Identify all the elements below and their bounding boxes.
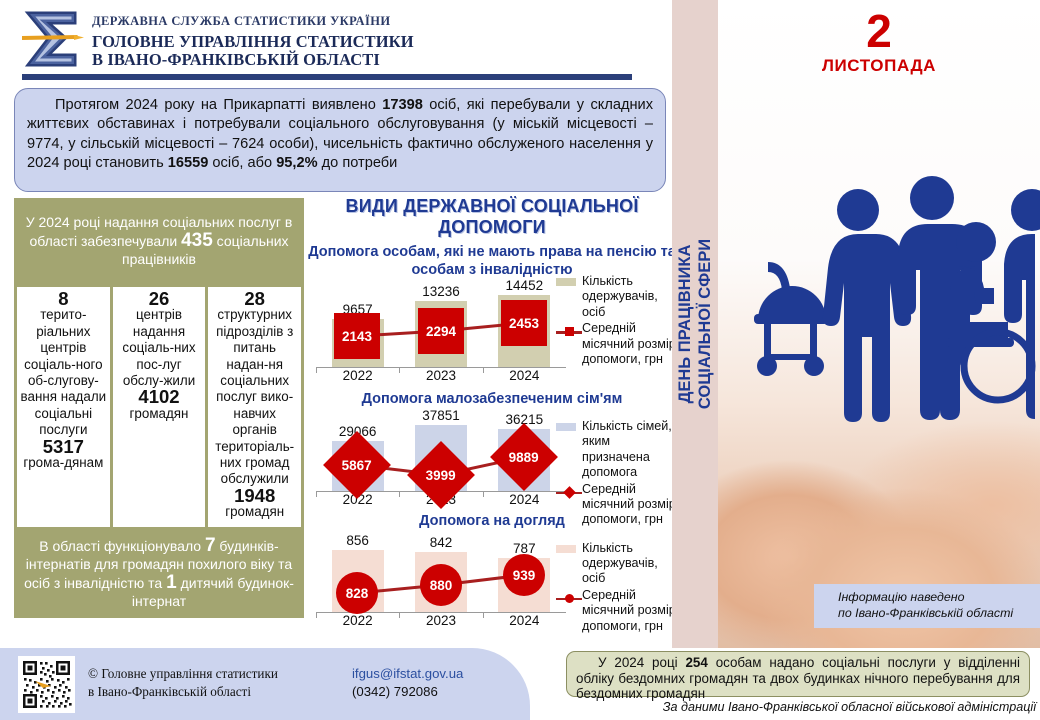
people-pictogram-icon xyxy=(740,170,1040,470)
line-marker-value: 939 xyxy=(513,568,536,583)
footer-contacts: ifgus@ifstat.gov.ua (0342) 792086 xyxy=(352,665,463,700)
header-divider xyxy=(22,74,632,80)
line-marker-value: 880 xyxy=(430,578,453,593)
charts-section-title: ВИДИ ДЕРЖАВНОЇ СОЦІАЛЬНОЇ ДОПОМОГИ xyxy=(306,196,678,238)
stat-number-bottom: 5317 xyxy=(20,439,107,455)
boarding-value-1: 7 xyxy=(205,535,216,556)
chart-plot-area: 29066 37851 36215 5867 xyxy=(316,409,566,509)
legend-label: Кількість одержувачів, осіб xyxy=(582,274,680,320)
line-marker-value: 5867 xyxy=(342,457,372,472)
staff-summary-banner: У 2024 році надання соціальних послуг в … xyxy=(14,198,304,284)
date-month: ЛИСТОПАДА xyxy=(718,56,1040,76)
stat-number-top: 28 xyxy=(211,291,298,307)
intro-text-4: до потреби xyxy=(318,155,398,171)
stat-number-bottom: 4102 xyxy=(116,389,203,405)
org-upper-title: ДЕРЖАВНА СЛУЖБА СТАТИСТИКИ УКРАЇНИ xyxy=(92,14,391,29)
right-illustration-pane: 2 ЛИСТОПАДА xyxy=(718,0,1040,648)
intro-value-3: 95,2% xyxy=(276,155,317,171)
stat-text-mid: центрів надання соціаль-них пос-луг обсл… xyxy=(122,307,195,388)
page-header: ДЕРЖАВНА СЛУЖБА СТАТИСТИКИ УКРАЇНИ ГОЛОВ… xyxy=(0,0,680,82)
legend-label: Середній місячний розмір допомоги, грн xyxy=(582,588,680,634)
legend-label: Кількість одержувачів, осіб xyxy=(582,541,680,587)
charts-title-line1: ВИДИ ДЕРЖАВНОЇ СОЦІАЛЬНОЇ xyxy=(306,196,678,217)
legend-entry-line: Середній місячний розмір допомоги, грн xyxy=(556,588,680,634)
intro-text-3: осіб, або xyxy=(208,155,276,171)
line-marker-value: 2453 xyxy=(509,316,539,331)
stat-text-bottom: грома-дянам xyxy=(23,455,103,470)
homeless-note-value: 254 xyxy=(685,655,707,670)
date-badge: 2 ЛИСТОПАДА xyxy=(718,8,1040,76)
line-marker-2023: 880 xyxy=(420,564,462,606)
intro-text-1: Протягом 2024 року на Прикарпатті виявле… xyxy=(55,97,382,113)
chart-care-assistance: Допомога на догляд 856 842 787 xyxy=(306,513,678,631)
info-banner-line1: Інформацію наведено xyxy=(838,590,1040,606)
line-marker-value: 828 xyxy=(346,586,369,601)
legend-entry-bars: Кількість одержувачів, осіб xyxy=(556,541,680,587)
vertical-banner-line1: ДЕНЬ ПРАЦІВНИКА xyxy=(675,239,695,409)
org-main-line1: ГОЛОВНЕ УПРАВЛІННЯ СТАТИСТИКИ xyxy=(92,33,414,51)
footer-org-line2: в Івано-Франківській області xyxy=(88,683,348,701)
intro-callout: Протягом 2024 року на Прикарпатті виявле… xyxy=(14,88,666,192)
stats-column-structural-units: 28 структурних підрозділів з питань нада… xyxy=(208,287,301,527)
left-stats-panel: У 2024 році надання соціальних послуг в … xyxy=(14,198,304,618)
boarding-houses-banner: В області функціонувало 7 будинків-інтер… xyxy=(14,530,304,618)
footer-organization: © Головне управління статистики в Івано-… xyxy=(88,665,348,700)
boarding-value-2: 1 xyxy=(166,572,177,593)
legend-entry-line: Середній місячний розмір допомоги, грн xyxy=(556,321,680,367)
stats-columns: 8 терито-ріальних центрів соціаль-ного о… xyxy=(14,284,304,530)
intro-value-2: 16559 xyxy=(168,155,209,171)
legend-entry-bars: Кількість сімей, яким призначена допомог… xyxy=(556,419,680,481)
stat-text-bottom: громадян xyxy=(130,406,189,421)
footer-phone: (0342) 792086 xyxy=(352,683,463,701)
info-banner-line2: по Івано-Франківській області xyxy=(838,606,1040,622)
stat-number-top: 8 xyxy=(20,291,107,307)
legend-label: Середній місячний розмір допомоги, грн xyxy=(582,321,680,367)
stats-column-territorial-centers: 8 терито-ріальних центрів соціаль-ного о… xyxy=(17,287,110,527)
line-marker-2024: 939 xyxy=(503,554,545,596)
stat-text-mid: структурних підрозділів з питань надан-н… xyxy=(215,307,294,486)
chart-title: Допомога на догляд xyxy=(306,513,678,531)
footer-org-line1: © Головне управління статистики xyxy=(88,665,348,683)
stat-number-top: 26 xyxy=(116,291,203,307)
source-note: За даними Івано-Франківської обласної ві… xyxy=(566,700,1036,714)
charts-section: ВИДИ ДЕРЖАВНОЇ СОЦІАЛЬНОЇ ДОПОМОГИ Допом… xyxy=(306,196,678,630)
charts-title-line2: ДОПОМОГИ xyxy=(306,217,678,238)
line-marker-2022: 2143 xyxy=(334,313,380,359)
staff-summary-value: 435 xyxy=(181,230,213,251)
line-marker-2023: 2294 xyxy=(418,308,464,354)
legend-label: Кількість сімей, яким призначена допомог… xyxy=(582,419,680,481)
date-day: 2 xyxy=(718,8,1040,54)
info-banner: Інформацію наведено по Івано-Франківські… xyxy=(814,584,1040,628)
line-marker-value: 3999 xyxy=(426,467,456,482)
qr-code-icon[interactable] xyxy=(18,656,75,713)
chart-plot-area: 856 842 787 828 xyxy=(316,530,566,630)
homeless-services-note: У 2024 році 254 особам надано соціальні … xyxy=(566,651,1030,697)
chart-plot-area: 9657 13236 14452 2143 xyxy=(316,279,566,385)
line-marker-2022: 828 xyxy=(336,572,378,614)
chart-assistance-no-pension: Допомога особам, які не мають права на п… xyxy=(306,244,678,385)
stats-column-service-centers: 26 центрів надання соціаль-них пос-луг о… xyxy=(113,287,206,527)
intro-value-1: 17398 xyxy=(382,97,423,113)
org-main-title: ГОЛОВНЕ УПРАВЛІННЯ СТАТИСТИКИ В ІВАНО-ФР… xyxy=(92,33,414,69)
line-marker-value: 2143 xyxy=(342,329,372,344)
line-marker-value: 9889 xyxy=(509,449,539,464)
vertical-banner-text: ДЕНЬ ПРАЦІВНИКА СОЦІАЛЬНОЇ СФЕРИ xyxy=(672,0,718,648)
org-main-line2: В ІВАНО-ФРАНКІВСЬКІЙ ОБЛАСТІ xyxy=(92,51,414,69)
sigma-emblem-icon xyxy=(16,8,86,70)
line-marker-value: 2294 xyxy=(426,324,456,339)
vertical-banner-line2: СОЦІАЛЬНОЇ СФЕРИ xyxy=(695,239,715,409)
line-marker-2024: 2453 xyxy=(501,300,547,346)
homeless-note-pre: У 2024 році xyxy=(598,655,685,670)
legend-entry-bars: Кількість одержувачів, осіб xyxy=(556,274,680,320)
chart-legend: Кількість одержувачів, осіб Середній міс… xyxy=(556,274,680,368)
stat-text-mid: терито-ріальних центрів соціаль-ного об-… xyxy=(21,307,107,437)
chart-assistance-low-income-families: Допомога малозабезпеченим сім'ям 29066 3… xyxy=(306,391,678,509)
footer-email[interactable]: ifgus@ifstat.gov.ua xyxy=(352,665,463,683)
stat-text-bottom: громадян xyxy=(225,504,284,519)
boarding-pre: В області функціонувало xyxy=(39,538,205,554)
chart-legend: Кількість одержувачів, осіб Середній міс… xyxy=(556,541,680,635)
chart-title: Допомога малозабезпеченим сім'ям xyxy=(306,391,678,409)
stat-number-bottom: 1948 xyxy=(211,488,298,504)
